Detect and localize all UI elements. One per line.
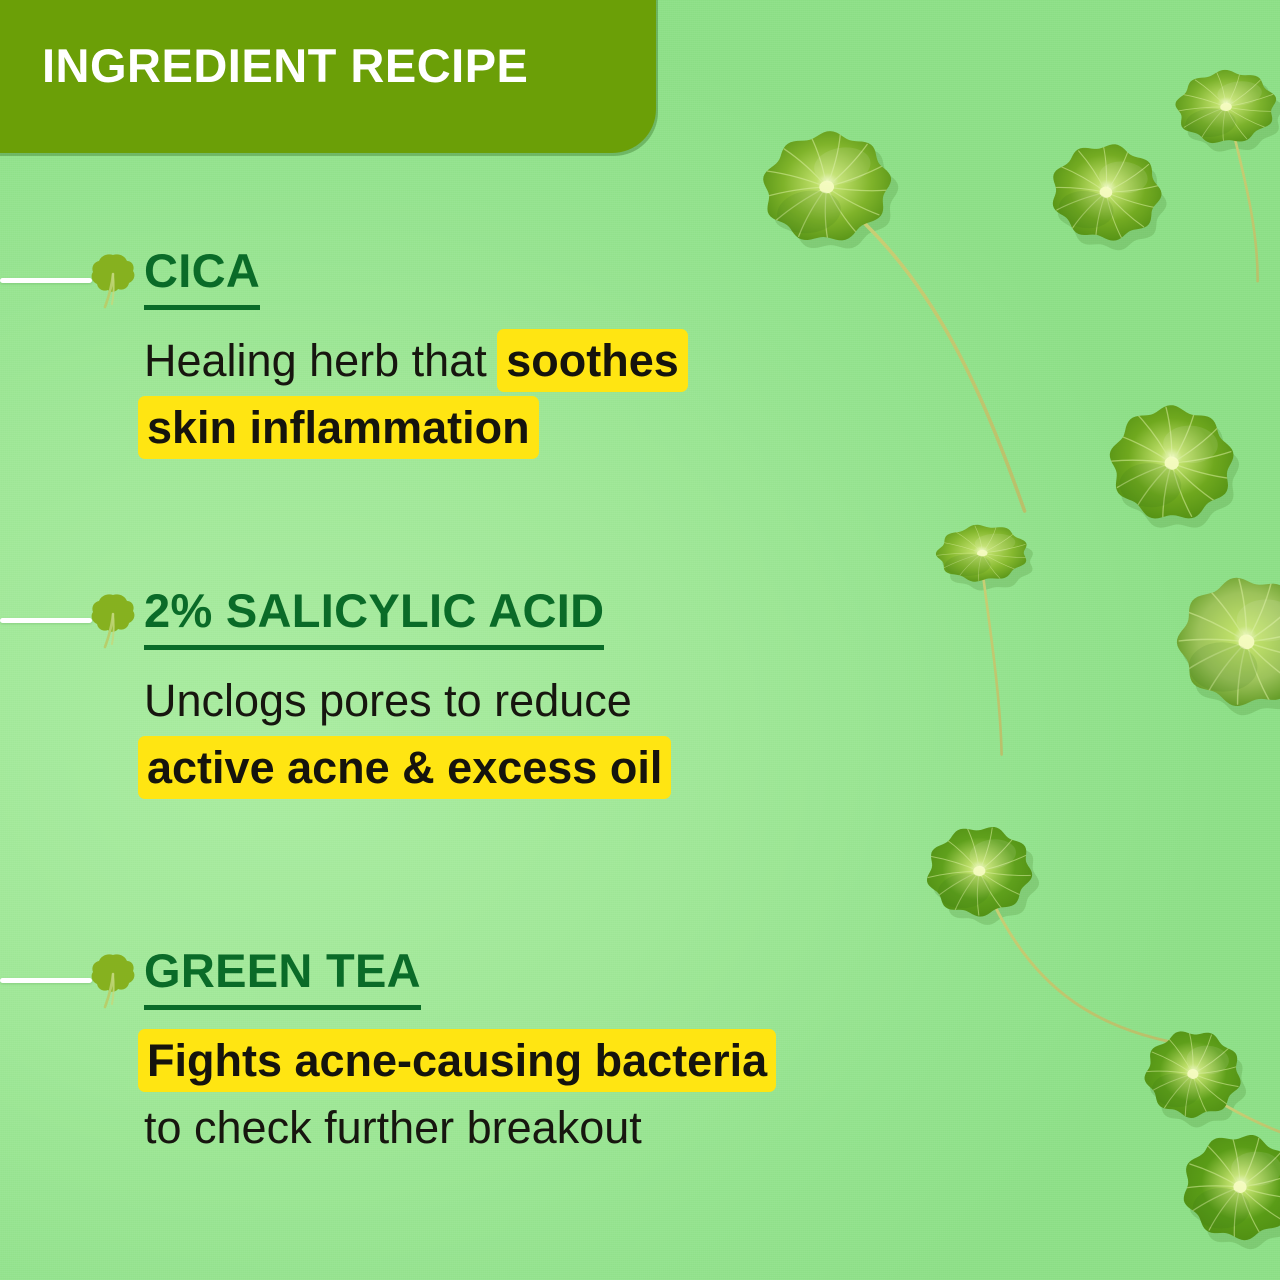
description-line: active acne & excess oil — [140, 739, 1024, 798]
description-line: skin inflammation — [140, 399, 1024, 458]
ingredient-title: CICA — [144, 246, 260, 310]
ingredient-description: Unclogs pores to reduceactive acne & exc… — [144, 672, 1024, 797]
page-title: INGREDIENT RECIPE — [42, 42, 528, 89]
connector-line — [0, 278, 92, 283]
description-text: Healing herb that — [144, 335, 499, 386]
highlighted-phrase: Fights acne-causing bacteria — [138, 1029, 776, 1092]
ingredient-description: Fights acne-causing bacteriato check fur… — [144, 1032, 1024, 1157]
description-text: to check further breakout — [144, 1102, 642, 1153]
ingredient-title-wrap: GREEN TEA — [144, 946, 421, 1010]
ingredient-description: Healing herb that soothesskin inflammati… — [144, 332, 1024, 457]
centella-leaf-icon — [90, 592, 136, 654]
ingredient-title: 2% SALICYLIC ACID — [144, 586, 604, 650]
highlighted-phrase: skin inflammation — [138, 396, 539, 459]
centella-leaf-photo-9 — [1140, 1095, 1280, 1280]
ingredient-title-wrap: 2% SALICYLIC ACID — [144, 586, 604, 650]
connector-line — [0, 618, 92, 623]
centella-leaf-photo-3 — [1134, 22, 1280, 385]
description-line: Healing herb that soothes — [144, 332, 1024, 391]
description-line: Unclogs pores to reduce — [144, 672, 1024, 731]
description-text: Unclogs pores to reduce — [144, 675, 632, 726]
centella-leaf-icon — [90, 952, 136, 1014]
centella-leaf-icon — [90, 252, 136, 314]
description-line: Fights acne-causing bacteria — [140, 1032, 1024, 1091]
header-banner: INGREDIENT RECIPE — [0, 0, 656, 153]
ingredient-title-wrap: CICA — [144, 246, 260, 310]
description-line: to check further breakout — [144, 1099, 1024, 1158]
highlighted-phrase: soothes — [497, 329, 688, 392]
highlighted-phrase: active acne & excess oil — [138, 736, 671, 799]
ingredient-title: GREEN TEA — [144, 946, 421, 1010]
ingredient-recipe-poster: INGREDIENT RECIPE CICA Healing herb that… — [0, 0, 1280, 1280]
connector-line — [0, 978, 92, 983]
